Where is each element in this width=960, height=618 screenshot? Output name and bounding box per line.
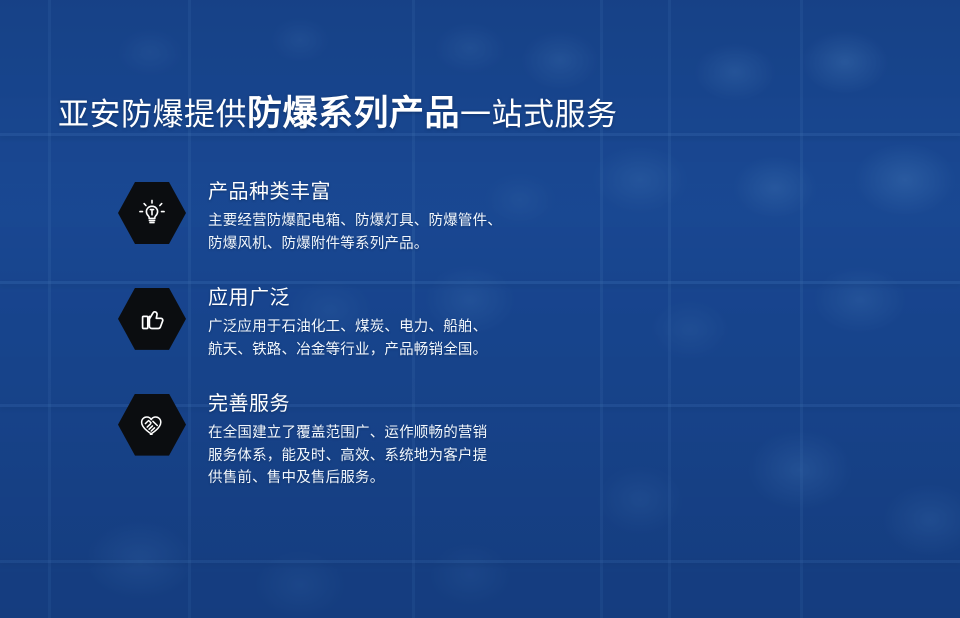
hexagon-shape: [118, 182, 186, 244]
lightbulb-icon: [135, 196, 169, 230]
feature-item: 产品种类丰富 主要经营防爆配电箱、防爆灯具、防爆管件、 防爆风机、防爆附件等系列…: [118, 180, 588, 256]
thumbs-up-icon: [136, 303, 168, 335]
description-line: 供售前、售中及售后服务。: [208, 467, 487, 490]
description-line: 航天、铁路、冶金等行业，产品畅销全国。: [208, 339, 487, 362]
feature-description: 在全国建立了覆盖范围广、运作顺畅的营销 服务体系，能及时、高效、系统地为客户提 …: [208, 422, 487, 491]
description-line: 在全国建立了覆盖范围广、运作顺畅的营销: [208, 422, 487, 445]
feature-item: 完善服务 在全国建立了覆盖范围广、运作顺畅的营销 服务体系，能及时、高效、系统地…: [118, 392, 588, 491]
feature-text: 产品种类丰富 主要经营防爆配电箱、防爆灯具、防爆管件、 防爆风机、防爆附件等系列…: [208, 180, 502, 256]
heart-handshake-icon: [135, 408, 169, 442]
feature-description: 广泛应用于石油化工、煤炭、电力、船舶、 航天、铁路、冶金等行业，产品畅销全国。: [208, 316, 487, 362]
hexagon-shape: [118, 288, 186, 350]
feature-title: 产品种类丰富: [208, 180, 502, 205]
description-line: 服务体系，能及时、高效、系统地为客户提: [208, 445, 487, 468]
headline-lead: 亚安防爆提供: [58, 99, 247, 130]
headline-tail: 一站式服务: [460, 99, 618, 130]
feature-title: 完善服务: [208, 392, 487, 417]
feature-text: 应用广泛 广泛应用于石油化工、煤炭、电力、船舶、 航天、铁路、冶金等行业，产品畅…: [208, 286, 487, 362]
hexagon-shape: [118, 394, 186, 456]
feature-icon-badge: [118, 288, 186, 350]
feature-item: 应用广泛 广泛应用于石油化工、煤炭、电力、船舶、 航天、铁路、冶金等行业，产品畅…: [118, 286, 588, 362]
feature-text: 完善服务 在全国建立了覆盖范围广、运作顺畅的营销 服务体系，能及时、高效、系统地…: [208, 392, 487, 491]
headline-emphasis: 防爆系列产品: [247, 96, 460, 131]
feature-icon-badge: [118, 182, 186, 244]
description-line: 防爆风机、防爆附件等系列产品。: [208, 233, 502, 256]
description-line: 主要经营防爆配电箱、防爆灯具、防爆管件、: [208, 210, 502, 233]
feature-title: 应用广泛: [208, 286, 487, 311]
promo-banner: 亚安防爆提供防爆系列产品一站式服务 产品种类丰富 主要经营防爆配电箱、防爆灯具: [0, 0, 960, 618]
feature-description: 主要经营防爆配电箱、防爆灯具、防爆管件、 防爆风机、防爆附件等系列产品。: [208, 210, 502, 256]
banner-headline: 亚安防爆提供防爆系列产品一站式服务: [58, 96, 618, 131]
description-line: 广泛应用于石油化工、煤炭、电力、船舶、: [208, 316, 487, 339]
feature-list: 产品种类丰富 主要经营防爆配电箱、防爆灯具、防爆管件、 防爆风机、防爆附件等系列…: [118, 180, 588, 490]
feature-icon-badge: [118, 394, 186, 456]
